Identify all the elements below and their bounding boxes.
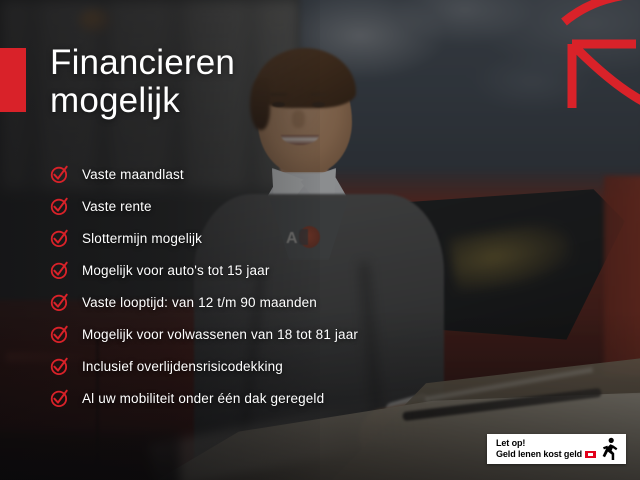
list-item-label: Vaste maandlast xyxy=(82,167,184,182)
headline-line-2: mogelijk xyxy=(50,82,470,120)
list-item: Inclusief overlijdensrisicodekking xyxy=(50,350,570,382)
car-pillar xyxy=(604,176,640,376)
check-circle-icon xyxy=(50,389,69,408)
list-item-label: Mogelijk voor volwassenen van 18 tot 81 … xyxy=(82,327,358,342)
list-item-label: Mogelijk voor auto's tot 15 jaar xyxy=(82,263,269,278)
check-circle-icon xyxy=(50,197,69,216)
warning-line-2: Geld lenen kost geld xyxy=(496,449,582,461)
list-item: Vaste rente xyxy=(50,190,570,222)
list-item-label: Vaste rente xyxy=(82,199,152,214)
showroom-light-blob xyxy=(78,8,112,34)
money-chip-icon xyxy=(585,451,596,458)
check-circle-icon xyxy=(50,229,69,248)
headline-line-1: Financieren xyxy=(50,43,235,82)
bottom-left-shadow xyxy=(0,432,180,480)
promo-banner: A Financieren mogelijk Vaste maandlastVa… xyxy=(0,0,640,480)
list-item: Al uw mobiliteit onder één dak geregeld xyxy=(50,382,570,414)
list-item-label: Slottermijn mogelijk xyxy=(82,231,202,246)
list-item: Vaste looptijd: van 12 t/m 90 maanden xyxy=(50,286,570,318)
page-title: Financieren mogelijk xyxy=(50,44,470,120)
walking-person-icon xyxy=(598,437,619,461)
warning-text: Let op! Geld lenen kost geld xyxy=(496,438,598,461)
feature-list: Vaste maandlastVaste renteSlottermijn mo… xyxy=(50,158,570,414)
check-circle-icon xyxy=(50,325,69,344)
check-circle-icon xyxy=(50,261,69,280)
list-item-label: Vaste looptijd: van 12 t/m 90 maanden xyxy=(82,295,317,310)
warning-line-1: Let op! xyxy=(496,438,598,450)
list-item: Mogelijk voor volwassenen van 18 tot 81 … xyxy=(50,318,570,350)
list-item: Slottermijn mogelijk xyxy=(50,222,570,254)
status-badge: Let op! Geld lenen kost geld xyxy=(487,434,626,464)
check-circle-icon xyxy=(50,293,69,312)
warning-line-2-row: Geld lenen kost geld xyxy=(496,449,598,461)
list-item-label: Inclusief overlijdensrisicodekking xyxy=(82,359,283,374)
list-item-label: Al uw mobiliteit onder één dak geregeld xyxy=(82,391,324,406)
red-rectangle-accent xyxy=(0,48,26,112)
check-circle-icon xyxy=(50,165,69,184)
list-item: Vaste maandlast xyxy=(50,158,570,190)
list-item: Mogelijk voor auto's tot 15 jaar xyxy=(50,254,570,286)
check-circle-icon xyxy=(50,357,69,376)
